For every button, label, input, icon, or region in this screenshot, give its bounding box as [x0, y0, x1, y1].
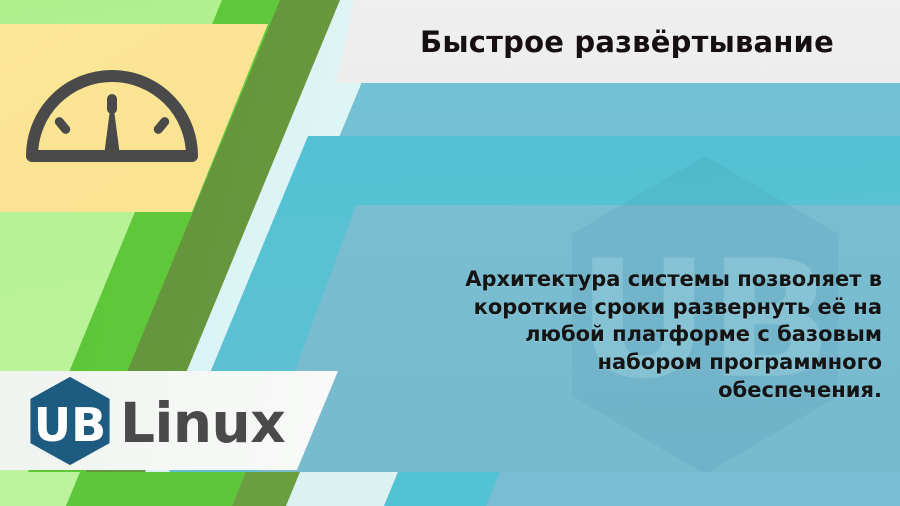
brand-logo: UB Linux	[24, 376, 285, 466]
body-text: Архитектура системы позволяет в короткие…	[462, 266, 882, 405]
teal-band	[384, 472, 500, 506]
ub-mark-text: UB	[34, 398, 106, 452]
slide-root: UB Быстрое развёртывание Архитектура сис…	[0, 0, 900, 506]
blue-band	[486, 472, 900, 506]
pale-green-band	[0, 472, 80, 506]
brand-name-linux: Linux	[120, 396, 285, 451]
speedometer-gauge-icon	[22, 58, 202, 168]
ub-hexagon-icon: UB	[24, 375, 116, 467]
page-title: Быстрое развёртывание	[354, 0, 900, 83]
light-cyan-band	[286, 472, 398, 506]
bottom-band-strip	[0, 472, 900, 506]
